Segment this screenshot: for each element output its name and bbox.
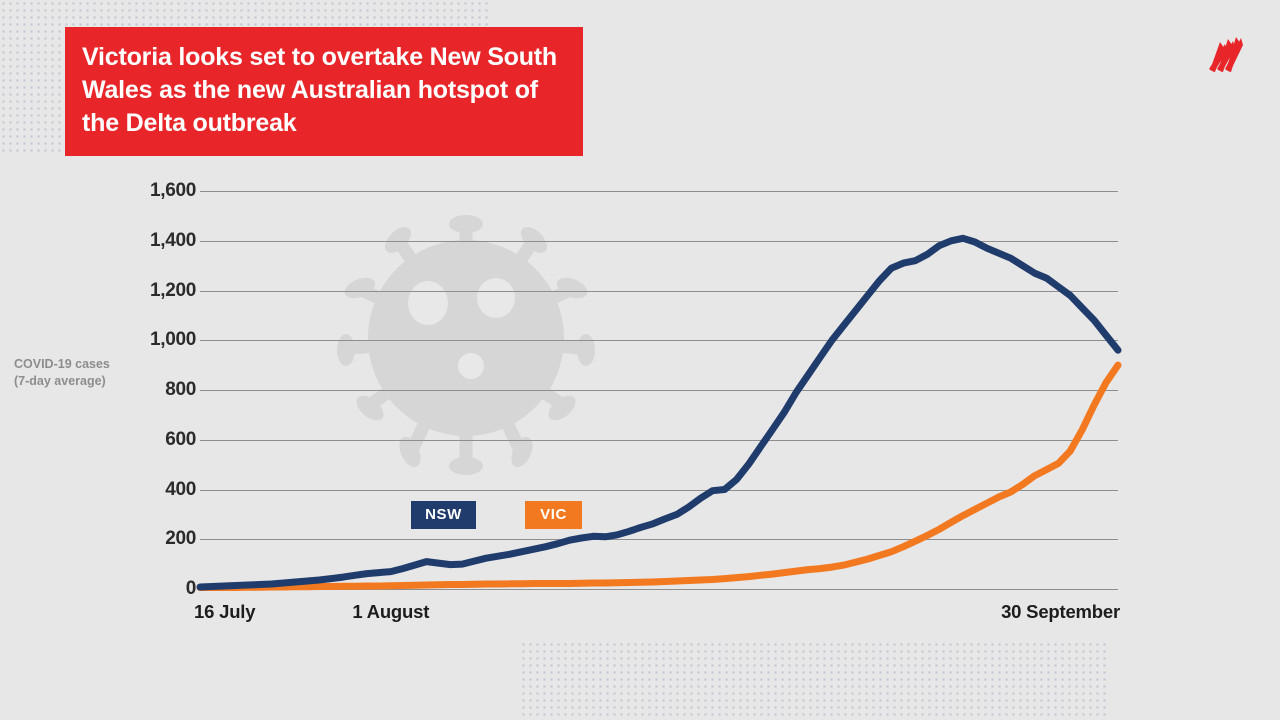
x-axis-tick-label: 1 August [352, 601, 429, 623]
legend-item-vic[interactable]: VIC [525, 501, 582, 529]
infographic-canvas: Victoria looks set to overtake New South… [0, 0, 1280, 720]
series-line-vic [200, 365, 1118, 587]
series-line-nsw [200, 238, 1118, 587]
x-axis-tick-label: 30 September [1001, 601, 1120, 623]
line-chart: COVID-19 cases (7-day average) 1,6001,40… [0, 0, 1280, 720]
legend-item-nsw[interactable]: NSW [411, 501, 476, 529]
x-axis-tick-label: 16 July [194, 601, 255, 623]
